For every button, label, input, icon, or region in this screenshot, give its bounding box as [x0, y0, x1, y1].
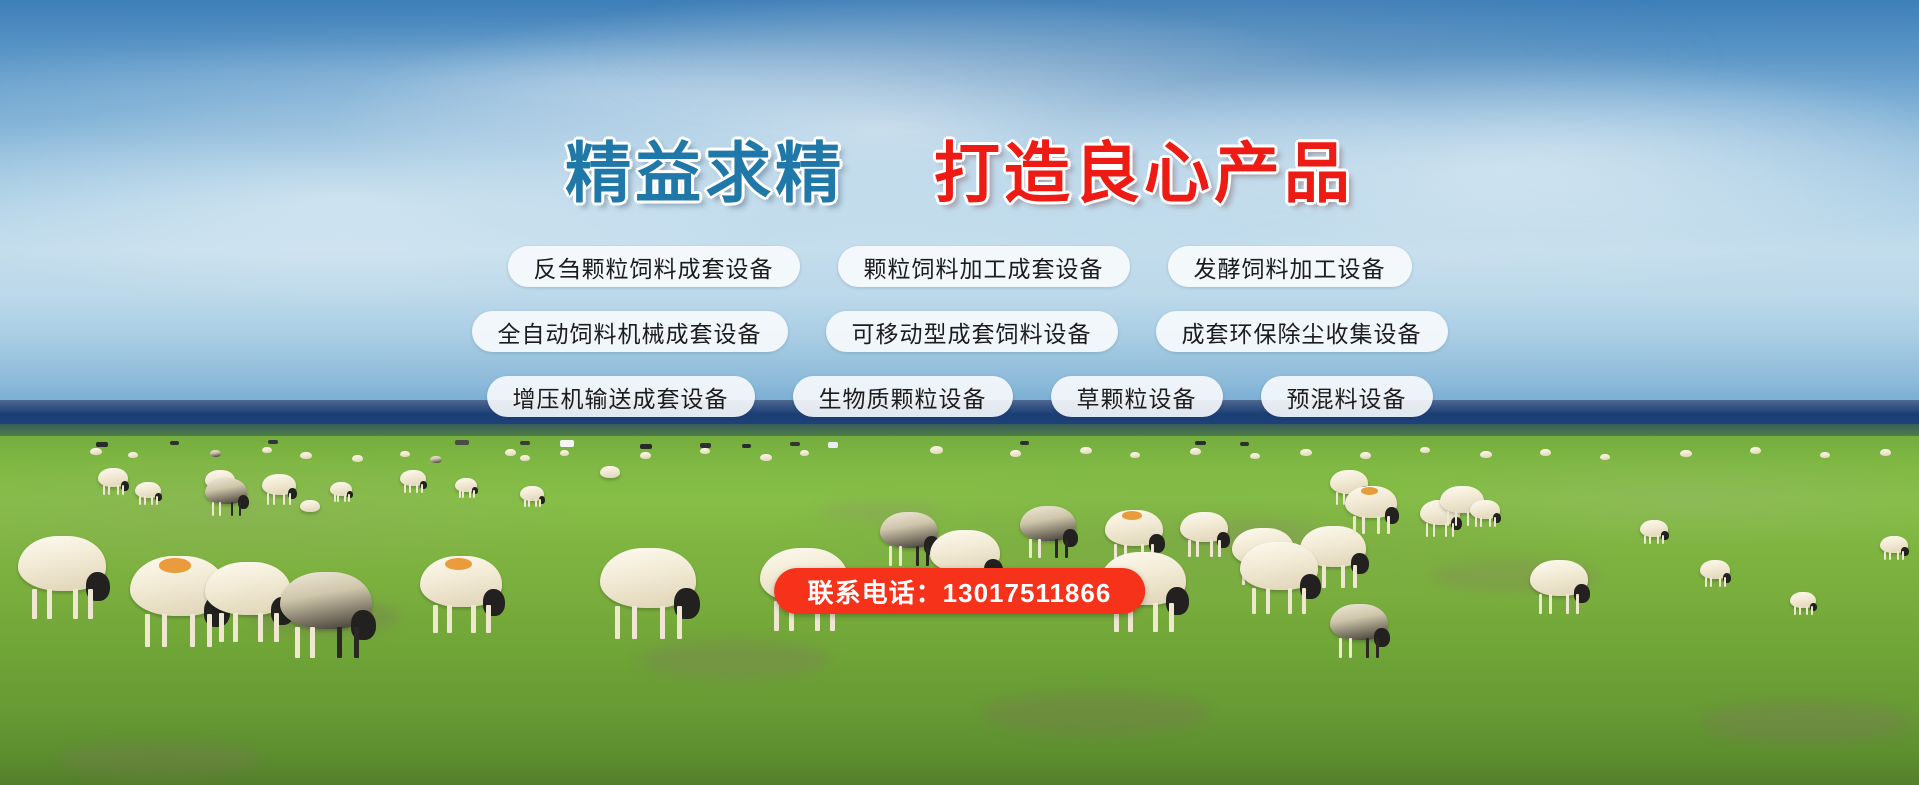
- sheep-leg: [144, 496, 146, 505]
- sheep-leg: [421, 484, 423, 493]
- sheep-leg: [615, 606, 620, 639]
- promo-banner: 精益求精 打造良心产品 反刍颗粒饲料成套设备颗粒饲料加工成套设备发酵饲料加工设备…: [0, 0, 1919, 785]
- sheep-leg: [459, 490, 461, 498]
- sheep-leg: [1169, 603, 1174, 632]
- category-pill-rows: 反刍颗粒饲料成套设备颗粒饲料加工成套设备发酵饲料加工设备全自动饲料机械成套设备可…: [0, 246, 1919, 417]
- sheep-leg: [239, 502, 241, 516]
- sheep: [1130, 452, 1140, 458]
- sheep-leg: [677, 606, 682, 639]
- sheep-leg: [1387, 516, 1390, 534]
- sheep-leg: [1539, 594, 1542, 614]
- sheep: [1470, 500, 1500, 519]
- category-pill[interactable]: 可移动型成套饲料设备: [826, 311, 1118, 352]
- sheep-leg: [1366, 638, 1369, 658]
- sheep-paint-mark: [159, 558, 192, 572]
- sheep: [262, 447, 272, 453]
- sheep: [520, 486, 544, 501]
- category-pill-row: 反刍颗粒饲料成套设备颗粒饲料加工成套设备发酵饲料加工设备: [508, 246, 1412, 287]
- sheep: [505, 449, 516, 456]
- sheep-leg: [151, 496, 153, 505]
- sheep-body: [1300, 449, 1312, 456]
- sheep-body: [520, 455, 530, 461]
- sheep-leg: [212, 502, 214, 516]
- sheep-body: [1420, 447, 1430, 453]
- sheep-leg: [1288, 588, 1292, 614]
- distant-object: [96, 442, 108, 447]
- distant-object: [268, 440, 278, 444]
- sheep: [1240, 542, 1318, 590]
- sheep-body: [505, 449, 516, 456]
- sheep-leg: [1353, 516, 1356, 534]
- sheep: [1540, 449, 1551, 456]
- sheep-leg: [1266, 588, 1270, 614]
- sheep-leg: [139, 496, 141, 505]
- sheep-body: [640, 452, 651, 459]
- sheep: [1480, 451, 1492, 458]
- sheep-leg: [344, 494, 346, 502]
- sheep-leg: [334, 494, 336, 502]
- sheep-leg: [1566, 594, 1569, 614]
- sheep-leg: [469, 490, 471, 498]
- sheep-body: [1360, 452, 1371, 459]
- sheep-leg: [1029, 539, 1032, 558]
- sheep-leg: [1794, 606, 1796, 615]
- sheep-leg: [1549, 594, 1552, 614]
- sheep: [400, 451, 410, 457]
- sheep-leg: [1038, 539, 1041, 558]
- sheep-leg: [310, 627, 315, 658]
- sheep-body: [560, 450, 569, 456]
- sheep-leg: [1494, 517, 1496, 527]
- dirt-patch: [1700, 700, 1910, 744]
- sheep-leg: [162, 614, 167, 647]
- sheep-leg: [889, 546, 892, 566]
- sheep-body: [1600, 454, 1610, 460]
- category-pill[interactable]: 发酵饲料加工设备: [1168, 246, 1412, 287]
- sheep: [1190, 448, 1201, 455]
- sheep-leg: [267, 493, 269, 505]
- distant-object: [828, 442, 838, 448]
- sheep-leg: [274, 613, 279, 642]
- sheep-leg: [660, 606, 665, 639]
- sheep-leg: [926, 546, 929, 566]
- sheep-body: [128, 452, 138, 458]
- sheep-leg: [1349, 638, 1352, 658]
- category-pill[interactable]: 反刍颗粒饲料成套设备: [508, 246, 800, 287]
- sheep-leg: [1719, 577, 1721, 587]
- sheep: [430, 456, 442, 463]
- sheep-leg: [528, 499, 530, 507]
- distant-object: [1195, 441, 1206, 445]
- category-pill[interactable]: 增压机输送成套设备: [487, 376, 755, 417]
- headline-primary: 精益求精: [565, 140, 845, 206]
- sheep: [1600, 454, 1610, 460]
- sheep: [1820, 452, 1830, 458]
- sheep: [98, 468, 128, 487]
- sheep: [800, 450, 809, 456]
- sheep-leg: [1705, 577, 1707, 587]
- sheep-leg: [122, 485, 124, 495]
- sheep: [18, 536, 106, 591]
- sheep-leg: [156, 496, 158, 505]
- sheep-leg: [473, 490, 475, 498]
- distant-object: [640, 444, 652, 449]
- sheep-leg: [1433, 523, 1435, 537]
- sheep: [300, 452, 312, 459]
- sheep: [600, 466, 620, 478]
- sheep: [1330, 604, 1388, 640]
- sheep-leg: [219, 502, 221, 516]
- sheep-body: [1820, 452, 1830, 458]
- distant-object: [742, 444, 751, 448]
- sheep-body: [700, 448, 710, 454]
- sheep: [1020, 506, 1076, 541]
- sheep: [1420, 447, 1430, 453]
- sheep: [300, 500, 320, 512]
- sheep: [352, 455, 363, 462]
- sheep-leg: [1210, 540, 1213, 557]
- sheep-body: [1080, 447, 1092, 454]
- sheep-leg: [1657, 535, 1659, 544]
- sheep-leg: [348, 494, 350, 502]
- category-pill[interactable]: 生物质颗粒设备: [793, 376, 1013, 417]
- sheep: [1640, 520, 1668, 537]
- sheep-leg: [1353, 565, 1357, 588]
- sheep: [1700, 560, 1730, 579]
- sheep-leg: [1065, 539, 1068, 558]
- category-pill[interactable]: 成套环保除尘收集设备: [1156, 311, 1448, 352]
- sheep: [1345, 486, 1397, 518]
- sheep: [262, 474, 296, 495]
- sheep-leg: [337, 494, 339, 502]
- sheep-leg: [354, 627, 359, 658]
- sheep-leg: [258, 613, 263, 642]
- sheep-leg: [1341, 565, 1345, 588]
- sheep-leg: [404, 484, 406, 493]
- sheep-leg: [47, 589, 52, 619]
- sheep-body: [930, 446, 943, 454]
- sheep-leg: [283, 493, 285, 505]
- sheep: [1010, 450, 1021, 457]
- sheep-body: [1250, 453, 1260, 459]
- contact-phone-banner[interactable]: 联系电话：13017511866: [774, 568, 1146, 614]
- sheep-leg: [190, 614, 195, 647]
- sheep-leg: [1889, 551, 1891, 560]
- sheep-body: [1130, 452, 1140, 458]
- sheep-leg: [1336, 492, 1338, 505]
- category-pill-row: 全自动饲料机械成套设备可移动型成套饲料设备成套环保除尘收集设备: [472, 311, 1448, 352]
- sheep-body: [300, 500, 320, 512]
- sheep-leg: [1339, 638, 1342, 658]
- sheep-body: [600, 466, 620, 478]
- sheep-body: [1880, 449, 1891, 456]
- sheep: [760, 454, 772, 461]
- sheep-leg: [1576, 594, 1579, 614]
- sheep: [205, 562, 291, 615]
- sheep-leg: [1252, 588, 1256, 614]
- sheep-leg: [337, 627, 342, 658]
- sheep-leg: [1644, 535, 1646, 544]
- sheep: [1300, 449, 1312, 456]
- sheep-leg: [1811, 606, 1813, 615]
- sheep: [420, 556, 502, 607]
- distant-object: [455, 440, 469, 445]
- sheep: [1880, 536, 1908, 553]
- sheep-leg: [1196, 540, 1199, 557]
- sheep-leg: [32, 589, 37, 619]
- distant-object: [1240, 442, 1249, 446]
- category-pill[interactable]: 颗粒饲料加工成套设备: [838, 246, 1130, 287]
- sheep-body: [800, 450, 809, 456]
- sheep-leg: [145, 614, 150, 647]
- sheep: [1790, 592, 1816, 608]
- sheep-leg: [1377, 516, 1380, 534]
- sheep-leg: [1884, 551, 1886, 560]
- sheep-leg: [1447, 511, 1449, 526]
- sheep-leg: [1362, 516, 1365, 534]
- sheep-leg: [899, 546, 902, 566]
- sheep-body: [90, 448, 102, 455]
- sheep-body: [300, 452, 312, 459]
- sheep-leg: [462, 490, 464, 498]
- sheep-leg: [1218, 540, 1221, 557]
- sheep-leg: [1376, 638, 1379, 658]
- sheep-leg: [88, 589, 93, 619]
- sheep-leg: [1489, 517, 1491, 527]
- sheep-leg: [447, 605, 452, 633]
- sheep-body: [1480, 451, 1492, 458]
- distant-object: [520, 441, 530, 445]
- sheep-leg: [539, 499, 541, 507]
- category-pill[interactable]: 全自动饲料机械成套设备: [472, 311, 788, 352]
- sheep: [930, 530, 1000, 573]
- sheep: [1105, 510, 1163, 546]
- sheep-leg: [1188, 540, 1191, 557]
- sheep-leg: [471, 605, 476, 633]
- sheep-leg: [524, 499, 526, 507]
- sheep: [1250, 453, 1260, 459]
- sheep-leg: [108, 485, 110, 495]
- sheep-body: [1680, 450, 1692, 457]
- sheep: [1680, 450, 1692, 457]
- sheep-leg: [233, 613, 238, 642]
- category-pill-row: 增压机输送成套设备生物质颗粒设备草颗粒设备预混料设备: [487, 376, 1433, 417]
- sheep: [280, 572, 372, 629]
- sheep: [400, 470, 426, 486]
- distant-object: [700, 443, 711, 448]
- sheep-leg: [1902, 551, 1904, 560]
- headline-secondary: 打造良心产品: [934, 140, 1354, 206]
- sheep-leg: [1710, 577, 1712, 587]
- sheep-leg: [1724, 577, 1726, 587]
- sheep: [930, 446, 943, 454]
- distant-object: [560, 440, 574, 447]
- sheep: [1880, 449, 1891, 456]
- sheep-leg: [1452, 523, 1454, 537]
- sheep: [700, 448, 710, 454]
- sheep-leg: [1662, 535, 1664, 544]
- dirt-patch: [980, 690, 1210, 736]
- sheep: [135, 482, 161, 498]
- sheep: [1080, 447, 1092, 454]
- sheep: [128, 452, 138, 458]
- sheep-body: [1750, 447, 1761, 454]
- sheep-body: [352, 455, 363, 462]
- sheep-leg: [231, 502, 233, 516]
- sheep: [1360, 452, 1371, 459]
- sheep-leg: [1649, 535, 1651, 544]
- sheep: [330, 482, 352, 496]
- sheep-leg: [295, 627, 300, 658]
- sheep-leg: [409, 484, 411, 493]
- sheep-leg: [1806, 606, 1808, 615]
- sheep-leg: [1322, 565, 1326, 588]
- sheep-leg: [1302, 588, 1306, 614]
- sheep-leg: [535, 499, 537, 507]
- sheep-leg: [916, 546, 919, 566]
- sheep-body: [400, 451, 410, 457]
- sheep-body: [1010, 450, 1021, 457]
- sheep-leg: [1475, 517, 1477, 527]
- sheep-body: [1190, 448, 1201, 455]
- category-pill[interactable]: 预混料设备: [1261, 376, 1433, 417]
- sheep-leg: [1799, 606, 1801, 615]
- sheep-leg: [416, 484, 418, 493]
- sheep: [455, 478, 477, 492]
- headline: 精益求精 打造良心产品: [0, 140, 1919, 206]
- dirt-patch: [60, 740, 260, 778]
- sheep-body: [760, 454, 772, 461]
- sheep-leg: [433, 605, 438, 633]
- sheep-leg: [73, 589, 78, 619]
- sheep-body: [430, 456, 442, 463]
- sheep: [640, 452, 651, 459]
- category-pill[interactable]: 草颗粒设备: [1051, 376, 1223, 417]
- sheep-leg: [103, 485, 105, 495]
- sheep: [1750, 447, 1761, 454]
- dirt-patch: [640, 640, 830, 680]
- sheep: [205, 478, 247, 504]
- sheep-leg: [289, 493, 291, 505]
- distant-object: [170, 441, 179, 445]
- sheep-leg: [219, 613, 224, 642]
- sheep-leg: [207, 614, 212, 647]
- sheep: [1180, 512, 1228, 542]
- sheep-leg: [1153, 603, 1158, 632]
- sheep: [1530, 560, 1588, 596]
- sheep: [520, 455, 530, 461]
- sheep: [560, 450, 569, 456]
- sheep-leg: [1055, 539, 1058, 558]
- sheep-body: [262, 447, 272, 453]
- sheep-leg: [273, 493, 275, 505]
- sheep-leg: [1455, 511, 1457, 526]
- sheep-body: [1540, 449, 1551, 456]
- sheep-leg: [1426, 523, 1428, 537]
- sheep-body: [210, 450, 221, 457]
- sheep: [210, 450, 221, 457]
- sheep-leg: [1897, 551, 1899, 560]
- sheep-leg: [1480, 517, 1482, 527]
- distant-object: [790, 442, 800, 446]
- sheep-leg: [117, 485, 119, 495]
- sheep: [90, 448, 102, 455]
- sheep-leg: [632, 606, 637, 639]
- sheep: [600, 548, 696, 608]
- sheep-leg: [486, 605, 491, 633]
- distant-object: [1020, 441, 1029, 445]
- sheep-leg: [1467, 511, 1469, 526]
- sheep-paint-mark: [1361, 487, 1379, 495]
